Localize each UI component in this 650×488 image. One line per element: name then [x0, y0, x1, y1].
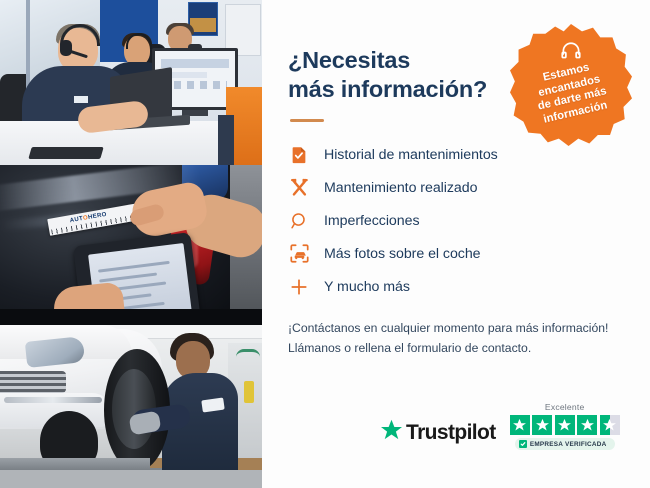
contact-info-banner: AUTOHERO [0, 0, 650, 488]
feature-item: Imperfecciones [288, 204, 628, 237]
tablet-line [98, 261, 170, 273]
dark-divider-panel [218, 115, 234, 165]
contact-line-2: Llámanos o rellena el formulario de cont… [288, 339, 628, 359]
document-check-icon [288, 144, 310, 166]
trustpilot-logo[interactable]: Trustpilot [380, 419, 496, 450]
star-half [600, 415, 620, 435]
keyboard [28, 147, 103, 159]
trustpilot-star-icon [380, 419, 403, 446]
verified-label: EMPRESA VERIFICADA [530, 441, 607, 448]
feature-item: Y mucho más [288, 270, 628, 303]
garage-floor [0, 470, 262, 488]
feature-label: Mantenimiento realizado [324, 180, 477, 196]
check-icon [519, 440, 527, 448]
green-hose [236, 349, 260, 357]
photo-bottom-shadow [0, 309, 262, 325]
contact-line-1: ¡Contáctanos en cualquier momento para m… [288, 319, 628, 339]
agent-name-badge [74, 96, 88, 103]
star-rating [510, 415, 620, 435]
feature-item: Mantenimiento realizado [288, 171, 628, 204]
photo-collage: AUTOHERO [0, 0, 262, 488]
feature-label: Más fotos sobre el coche [324, 246, 481, 262]
call-center-agents-photo [0, 0, 262, 165]
rating-label: Excelente [545, 402, 585, 412]
trustpilot-wordmark: Trustpilot [406, 421, 496, 445]
headset-icon [560, 41, 582, 59]
trustpilot-score-block: Excelente [510, 402, 620, 450]
star-filled [510, 415, 530, 435]
feature-list: Historial de mantenimientos Mantenimient… [288, 138, 628, 303]
trustpilot-rating[interactable]: Trustpilot Excelente [380, 402, 620, 450]
support-badge: Estamos encantados de darte más informac… [510, 24, 632, 146]
star-filled [577, 415, 597, 435]
plus-icon [288, 276, 310, 298]
car-scan-icon [288, 243, 310, 265]
feature-label: Imperfecciones [324, 213, 420, 229]
feature-label: Y mucho más [324, 279, 410, 295]
chrome-trim [4, 397, 102, 403]
wrench-screwdriver-icon [288, 177, 310, 199]
verified-badge: EMPRESA VERIFICADA [515, 438, 615, 450]
car-inspection-ruler-photo: AUTOHERO [0, 165, 262, 325]
fluid-bottle [244, 381, 254, 403]
car-grille [0, 371, 66, 393]
feature-item: Más fotos sobre el coche [288, 237, 628, 270]
headset-earcup [60, 40, 72, 56]
title-divider [290, 119, 324, 122]
wheel-inspection-photo [0, 325, 262, 488]
wall-poster-image [190, 18, 216, 32]
tablet-line [99, 273, 157, 283]
star-filled [532, 415, 552, 435]
page-title: ¿Necesitas más información? [288, 46, 518, 104]
star-filled [555, 415, 575, 435]
heading-line-2: más información? [288, 75, 518, 104]
feature-label: Historial de mantenimientos [324, 147, 498, 163]
magnifier-icon [288, 210, 310, 232]
heading-line-1: ¿Necesitas [288, 46, 518, 75]
content-panel: ¿Necesitas más información? Estamos enca… [262, 0, 650, 488]
contact-text: ¡Contáctanos en cualquier momento para m… [288, 319, 628, 359]
